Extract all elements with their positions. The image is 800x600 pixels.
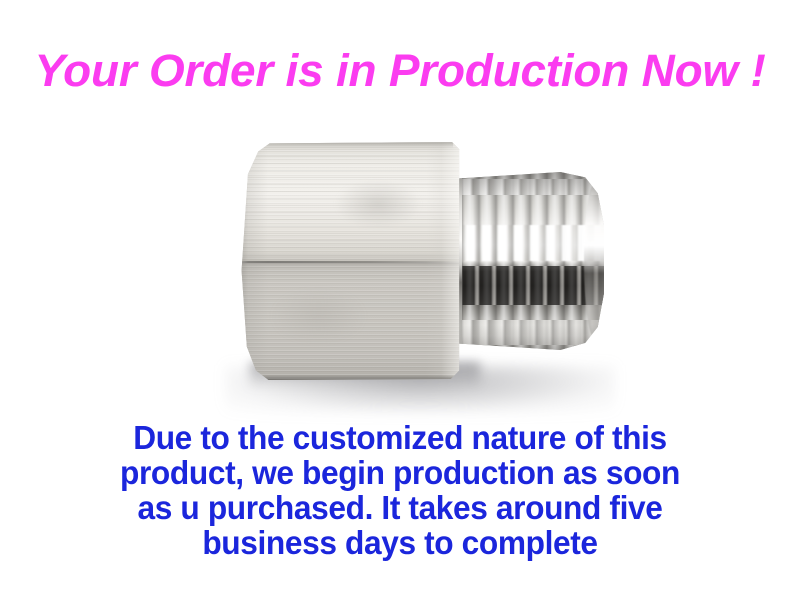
hex-top-bevel — [248, 142, 453, 148]
product-photo — [0, 110, 800, 410]
hex-reflection-a — [335, 180, 422, 228]
hex-reflection-b — [273, 290, 364, 342]
body-text: Due to the customized nature of this pro… — [74, 420, 727, 560]
hex-bottom-lip — [243, 375, 455, 380]
hex-right-chamfer — [426, 142, 460, 380]
thread-body — [448, 172, 604, 350]
body-line-2: product, we begin production as soon — [74, 455, 727, 490]
body-line-4: business days to complete — [74, 525, 727, 560]
thread-edge-vignette — [448, 172, 604, 350]
body-line-3: as u purchased. It takes around five — [74, 490, 727, 525]
body-line-1: Due to the customized nature of this — [74, 420, 727, 455]
headline-text: Your Order is in Production Now ! — [0, 47, 800, 94]
hex-body-surface — [232, 142, 460, 380]
hex-left-chamfer — [232, 142, 268, 380]
hex-nut-body — [232, 142, 460, 380]
male-threaded-section — [448, 172, 604, 350]
product-notice-image: Your Order is in Production Now ! — [0, 0, 800, 600]
